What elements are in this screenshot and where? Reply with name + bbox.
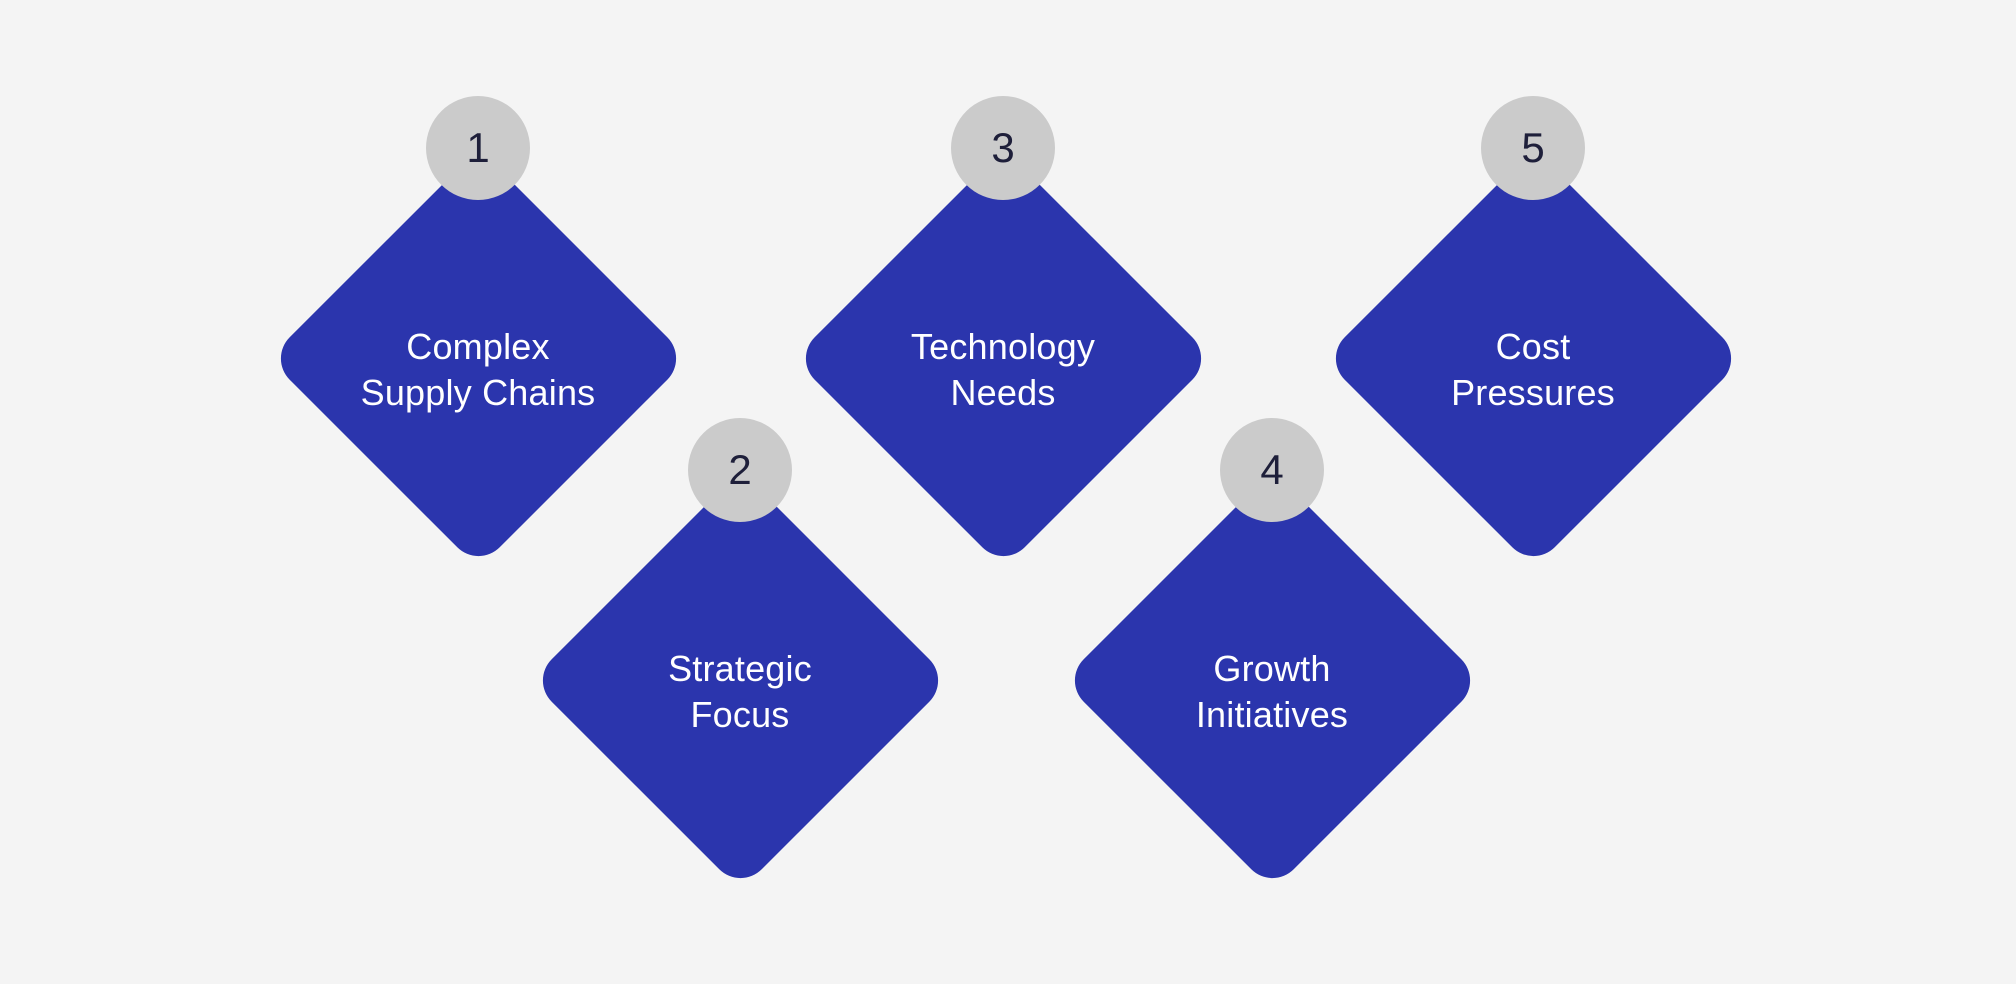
diamond-shape-4 <box>1062 470 1482 890</box>
diamond-shape-2 <box>530 470 950 890</box>
diamond-shape-3 <box>793 148 1213 568</box>
step-badge-3[interactable]: 3 <box>951 96 1055 200</box>
step-badge-5[interactable]: 5 <box>1481 96 1585 200</box>
step-badge-2[interactable]: 2 <box>688 418 792 522</box>
diamond-shape-5 <box>1323 148 1743 568</box>
step-badge-1[interactable]: 1 <box>426 96 530 200</box>
step-badge-4[interactable]: 4 <box>1220 418 1324 522</box>
diamond-shape-1 <box>268 148 688 568</box>
diagram-canvas: Complex Supply Chains 1 Strategic Focus … <box>0 0 2016 984</box>
